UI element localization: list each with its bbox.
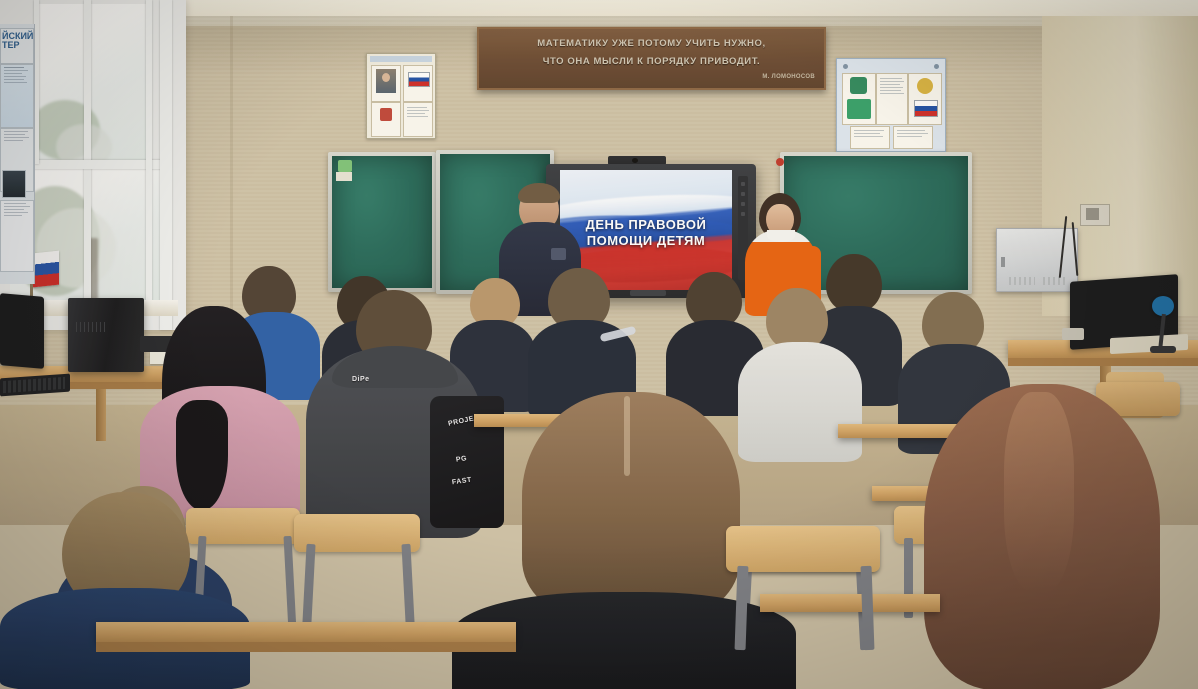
student-hair-right-highlight bbox=[1004, 392, 1074, 592]
emblem-icon-green-2 bbox=[847, 99, 871, 119]
wall-plaque: МАТЕМАТИКУ УЖЕ ПОТОМУ УЧИТЬ НУЖНО, ЧТО О… bbox=[477, 27, 826, 90]
student-head-b6 bbox=[826, 254, 882, 312]
russia-flag-icon bbox=[408, 72, 430, 87]
emblem-icon-gold bbox=[917, 78, 933, 94]
cabinet-latch bbox=[1001, 257, 1005, 267]
chalkboard-hook bbox=[776, 158, 784, 166]
poster-upper bbox=[0, 64, 34, 128]
student-body-m1 bbox=[738, 342, 862, 462]
info-stand-right bbox=[836, 58, 946, 152]
chalkboard-note bbox=[336, 172, 352, 181]
poster-lower bbox=[0, 200, 34, 272]
desk-foreground bbox=[96, 622, 516, 642]
speaker-male-hair bbox=[518, 183, 560, 203]
stand-pin-left bbox=[843, 64, 848, 69]
desk-row-mid-2 bbox=[838, 424, 958, 438]
cabinet-vents-2 bbox=[1043, 277, 1067, 285]
screen-title-line1: ДЕНЬ ПРАВОВОЙ bbox=[560, 218, 732, 233]
window-frame-outer bbox=[160, 0, 172, 330]
plaque-line2: ЧТО ОНА МЫСЛИ К ПОРЯДКУ ПРИВОДИТ. bbox=[487, 56, 816, 67]
panel-camera-lens bbox=[632, 158, 638, 163]
text-card bbox=[403, 102, 433, 137]
chair-fg-left[interactable] bbox=[726, 526, 880, 572]
desk-right-edge bbox=[1008, 358, 1198, 366]
table-card-left bbox=[850, 126, 890, 149]
coat-of-arms-icon bbox=[380, 108, 392, 121]
cabinet-vents bbox=[1009, 277, 1035, 285]
classroom-photo: ЙСКИЙ ТЕР МАТЕМАТИКУ УЖЕ ПОТОМУ УЧИТЬ НУ… bbox=[0, 0, 1198, 689]
flag-icon-small bbox=[914, 100, 938, 117]
panel-button-2[interactable] bbox=[741, 192, 745, 196]
monitor-left[interactable] bbox=[0, 293, 44, 369]
desk-speaker-right bbox=[1062, 328, 1084, 340]
portrait-card bbox=[371, 65, 401, 102]
desk-flag-russia bbox=[33, 251, 59, 288]
emblem-card-a bbox=[842, 73, 876, 125]
window-glass-upper bbox=[36, 4, 148, 164]
desk-lamp-base bbox=[1150, 346, 1176, 353]
window-mullion-v1 bbox=[84, 0, 91, 310]
plaque-author: М. ЛОМОНОСОВ bbox=[762, 74, 815, 80]
panel-button-1[interactable] bbox=[741, 182, 745, 186]
emblem-icon-green bbox=[850, 77, 867, 94]
student-head-m1 bbox=[766, 288, 828, 350]
chair-mid-1-leg2 bbox=[283, 536, 296, 632]
student-hair-center-girl bbox=[522, 392, 740, 618]
desk-foreground-edge bbox=[96, 642, 516, 652]
poster-photo bbox=[2, 170, 26, 198]
desk-lamp-head bbox=[1152, 296, 1174, 316]
hoodie-print: DiPe bbox=[352, 376, 370, 383]
emblem-flag-card bbox=[908, 73, 942, 125]
speaker-female-collar bbox=[767, 230, 795, 242]
panel-button-3[interactable] bbox=[741, 202, 745, 206]
student-hair-strand bbox=[176, 400, 228, 510]
pc-tower-left bbox=[68, 298, 144, 372]
panel-button-4[interactable] bbox=[741, 212, 745, 216]
poster-title: ЙСКИЙ ТЕР bbox=[0, 28, 34, 64]
desk-foreground-right bbox=[760, 594, 940, 612]
panel-logo-bar bbox=[630, 290, 666, 296]
table-card-right bbox=[893, 126, 933, 149]
junction-socket bbox=[1086, 208, 1099, 220]
chair-fg-left-leg2 bbox=[861, 566, 875, 650]
emblem-card bbox=[371, 102, 401, 137]
window-mullion-v3 bbox=[146, 0, 152, 308]
tower-vent bbox=[76, 322, 106, 332]
network-cabinet bbox=[996, 228, 1078, 292]
poster-title-line2: ТЕР bbox=[1, 41, 33, 50]
info-stand-left bbox=[366, 53, 436, 139]
speaker-male-badge bbox=[551, 248, 566, 260]
text-card-center bbox=[876, 73, 908, 125]
stand-header bbox=[370, 56, 432, 62]
plaque-line1: МАТЕМАТИКУ УЖЕ ПОТОМУ УЧИТЬ НУЖНО, bbox=[487, 38, 816, 49]
screen-title-line2: ПОМОЩИ ДЕТЯМ bbox=[560, 234, 732, 249]
flag-card bbox=[403, 65, 433, 102]
stand-pin-right bbox=[934, 64, 939, 69]
chalkboard-magnet bbox=[338, 160, 352, 172]
student-hair-center-part bbox=[624, 396, 630, 476]
portrait-face bbox=[382, 73, 390, 82]
desk-left-leg bbox=[96, 389, 106, 441]
